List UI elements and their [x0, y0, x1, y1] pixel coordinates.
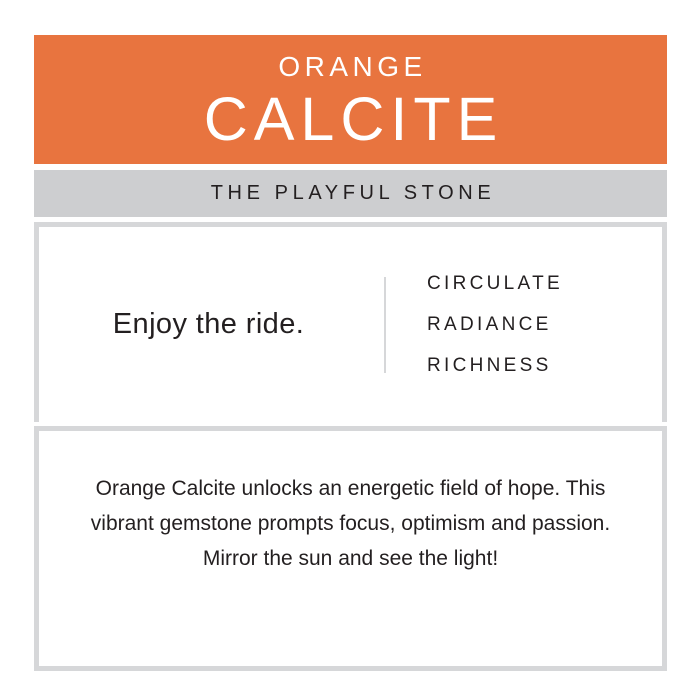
subtitle-text: THE PLAYFUL STONE — [206, 182, 496, 205]
stone-info-card: ORANGE CALCITE THE PLAYFUL STONE Enjoy t… — [34, 35, 667, 671]
subtitle-band: THE PLAYFUL STONE — [34, 170, 667, 217]
description-text: Orange Calcite unlocks an energetic fiel… — [71, 471, 631, 576]
description-box: Orange Calcite unlocks an energetic fiel… — [34, 426, 667, 671]
keyword-list: CIRCULATE RADIANCE RICHNESS — [386, 263, 662, 386]
keyword-item: CIRCULATE — [427, 274, 662, 293]
banner-title: CALCITE — [198, 87, 504, 151]
tagline-cell: Enjoy the ride. — [39, 308, 384, 341]
title-banner: ORANGE CALCITE — [34, 35, 667, 164]
keyword-item: RICHNESS — [427, 356, 662, 375]
banner-kicker: ORANGE — [274, 53, 426, 81]
keyword-item: RADIANCE — [427, 315, 662, 334]
tagline-keywords-box: Enjoy the ride. CIRCULATE RADIANCE RICHN… — [34, 222, 667, 422]
tagline-text: Enjoy the ride. — [113, 308, 304, 341]
